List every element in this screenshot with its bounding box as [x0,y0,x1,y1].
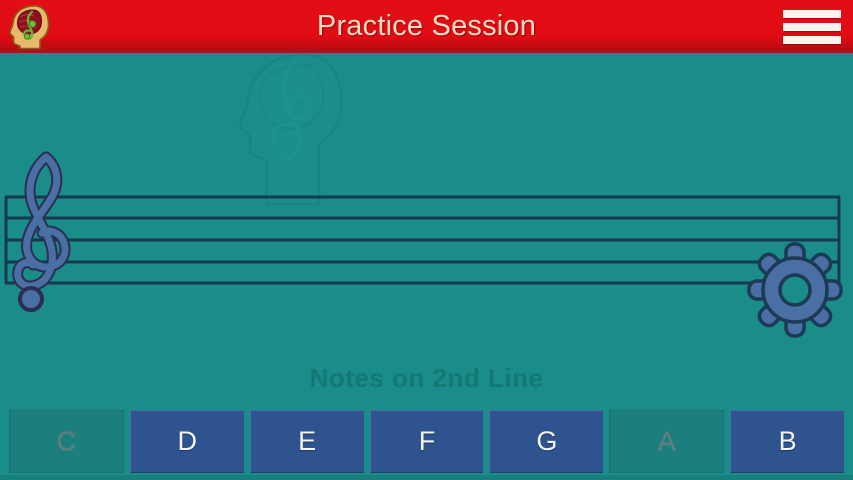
note-button-a: A [609,410,724,473]
note-button-label: G [536,426,557,457]
note-answer-buttons: C D E F G A B [0,403,853,480]
note-button-label: D [178,426,198,457]
menu-bar-3 [783,36,841,44]
lesson-subtitle-watermark: Notes on 2nd Line [0,363,853,394]
app-header-bar: Practice Session [0,0,853,53]
note-button-c: C [9,410,124,473]
note-button-f[interactable]: F [370,410,484,473]
menu-bar-1 [783,10,841,18]
head-with-treble-clef-icon [6,3,52,50]
note-button-d[interactable]: D [130,410,244,473]
practice-stage: Notes on 2nd Line [0,53,853,401]
note-button-e[interactable]: E [250,410,364,473]
menu-bar-2 [783,23,841,31]
note-button-label: F [419,426,436,457]
bottom-edge-strip [0,475,853,480]
note-button-g[interactable]: G [489,410,603,473]
page-title: Practice Session [0,0,853,53]
note-button-label: C [57,426,77,457]
note-button-label: B [779,426,797,457]
note-button-label: E [298,426,316,457]
note-button-b[interactable]: B [730,410,844,473]
settings-gear-icon[interactable] [746,241,844,339]
practice-session-screen: Practice Session [0,0,853,480]
note-button-label: A [658,426,676,457]
background-watermark-logo [0,53,853,401]
hamburger-menu-icon[interactable] [783,8,841,46]
